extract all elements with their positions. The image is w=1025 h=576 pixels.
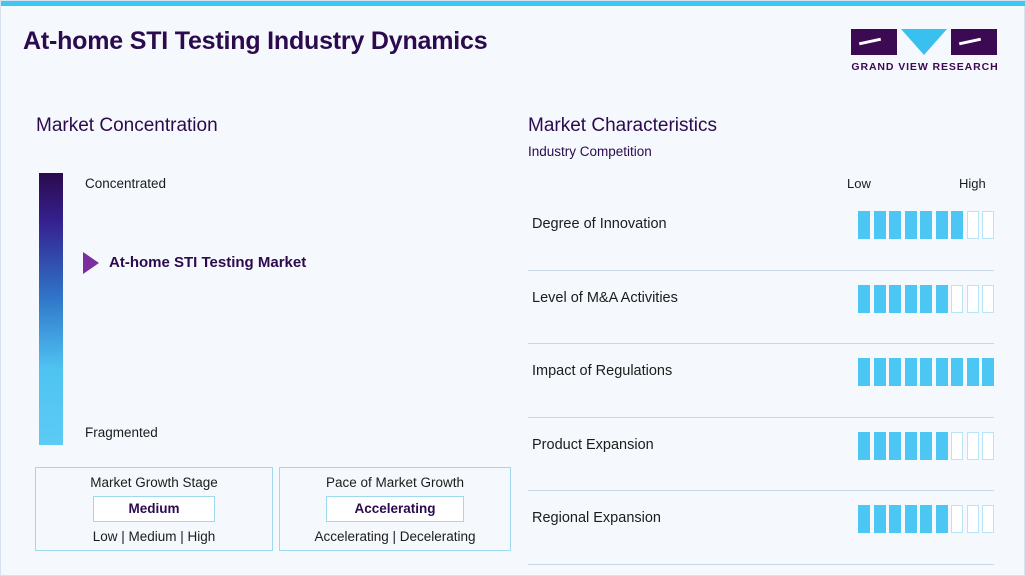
- characteristic-row: Impact of Regulations: [528, 344, 994, 418]
- characteristic-label: Impact of Regulations: [532, 363, 672, 379]
- rating-tick-empty: [967, 505, 979, 533]
- rating-tick-filled: [858, 211, 870, 239]
- characteristic-rating-ticks: [858, 211, 994, 239]
- characteristic-rating-ticks: [858, 285, 994, 313]
- rating-tick-filled: [951, 211, 963, 239]
- rating-tick-filled: [905, 358, 917, 386]
- top-accent-rule: [1, 1, 1025, 6]
- page-title: At-home STI Testing Industry Dynamics: [23, 27, 487, 56]
- rating-tick-filled: [936, 432, 948, 460]
- rating-tick-filled: [858, 285, 870, 313]
- market-characteristics-subtitle: Industry Competition: [528, 144, 652, 159]
- rating-tick-empty: [982, 285, 994, 313]
- scale-label-fragmented: Fragmented: [85, 425, 158, 440]
- rating-tick-filled: [936, 211, 948, 239]
- rating-tick-filled: [905, 505, 917, 533]
- infographic-page: At-home STI Testing Industry Dynamics GR…: [0, 0, 1025, 576]
- rating-tick-empty: [967, 285, 979, 313]
- market-concentration-title: Market Concentration: [36, 115, 218, 137]
- rating-tick-filled: [858, 432, 870, 460]
- rating-tick-filled: [936, 358, 948, 386]
- pace-of-market-growth-value: Accelerating: [326, 496, 464, 522]
- market-growth-stage-heading: Market Growth Stage: [36, 475, 272, 490]
- rating-tick-filled: [874, 432, 886, 460]
- scale-label-high: High: [959, 176, 986, 191]
- rating-tick-filled: [889, 211, 901, 239]
- logo-marks: [851, 29, 999, 55]
- rating-tick-filled: [858, 358, 870, 386]
- rating-tick-empty: [951, 505, 963, 533]
- rating-tick-empty: [951, 432, 963, 460]
- rating-tick-filled: [920, 432, 932, 460]
- market-characteristics-title: Market Characteristics: [528, 115, 717, 137]
- pace-of-market-growth-heading: Pace of Market Growth: [280, 475, 510, 490]
- rating-tick-empty: [967, 211, 979, 239]
- concentration-gradient-scale: [39, 173, 63, 445]
- rating-tick-filled: [920, 358, 932, 386]
- scale-label-low: Low: [847, 176, 871, 191]
- rating-tick-filled: [874, 285, 886, 313]
- characteristic-rating-ticks: [858, 505, 994, 533]
- logo-left-box-icon: [851, 29, 897, 55]
- rating-tick-filled: [936, 285, 948, 313]
- rating-tick-empty: [982, 211, 994, 239]
- rating-tick-filled: [874, 211, 886, 239]
- market-position-marker-icon: [83, 252, 99, 274]
- characteristic-rating-ticks: [858, 358, 994, 386]
- market-position-label: At-home STI Testing Market: [109, 254, 306, 271]
- pace-of-market-growth-options: Accelerating | Decelerating: [280, 529, 510, 544]
- logo-triangle-icon: [901, 29, 947, 55]
- rating-tick-filled: [858, 505, 870, 533]
- logo-right-box-icon: [951, 29, 997, 55]
- rating-tick-filled: [920, 211, 932, 239]
- rating-tick-empty: [967, 432, 979, 460]
- rating-tick-filled: [889, 358, 901, 386]
- rating-tick-filled: [874, 358, 886, 386]
- rating-tick-filled: [920, 505, 932, 533]
- rating-tick-filled: [889, 285, 901, 313]
- characteristic-label: Regional Expansion: [532, 510, 661, 526]
- pace-of-market-growth-box: Pace of Market Growth Accelerating Accel…: [279, 467, 511, 551]
- rating-tick-empty: [951, 285, 963, 313]
- rating-tick-filled: [920, 285, 932, 313]
- characteristic-row: Regional Expansion: [528, 491, 994, 565]
- rating-tick-empty: [982, 505, 994, 533]
- rating-tick-filled: [967, 358, 979, 386]
- market-growth-stage-options: Low | Medium | High: [36, 529, 272, 544]
- market-growth-stage-value: Medium: [93, 496, 215, 522]
- market-growth-stage-box: Market Growth Stage Medium Low | Medium …: [35, 467, 273, 551]
- characteristic-label: Degree of Innovation: [532, 216, 667, 232]
- characteristic-row: Degree of Innovation: [528, 197, 994, 271]
- rating-tick-filled: [874, 505, 886, 533]
- rating-tick-filled: [905, 432, 917, 460]
- logo-wordmark: GRAND VIEW RESEARCH: [851, 61, 999, 73]
- rating-tick-filled: [905, 211, 917, 239]
- rating-tick-filled: [936, 505, 948, 533]
- rating-tick-empty: [982, 432, 994, 460]
- rating-tick-filled: [982, 358, 994, 386]
- characteristic-label: Product Expansion: [532, 437, 654, 453]
- characteristic-rating-ticks: [858, 432, 994, 460]
- characteristic-row: Product Expansion: [528, 418, 994, 492]
- rating-tick-filled: [889, 432, 901, 460]
- rating-tick-filled: [905, 285, 917, 313]
- grand-view-research-logo: GRAND VIEW RESEARCH: [851, 29, 999, 77]
- characteristic-label: Level of M&A Activities: [532, 290, 678, 306]
- market-characteristics-rows: Degree of InnovationLevel of M&A Activit…: [528, 197, 994, 565]
- scale-label-concentrated: Concentrated: [85, 176, 166, 191]
- rating-tick-filled: [951, 358, 963, 386]
- characteristic-row: Level of M&A Activities: [528, 271, 994, 345]
- rating-tick-filled: [889, 505, 901, 533]
